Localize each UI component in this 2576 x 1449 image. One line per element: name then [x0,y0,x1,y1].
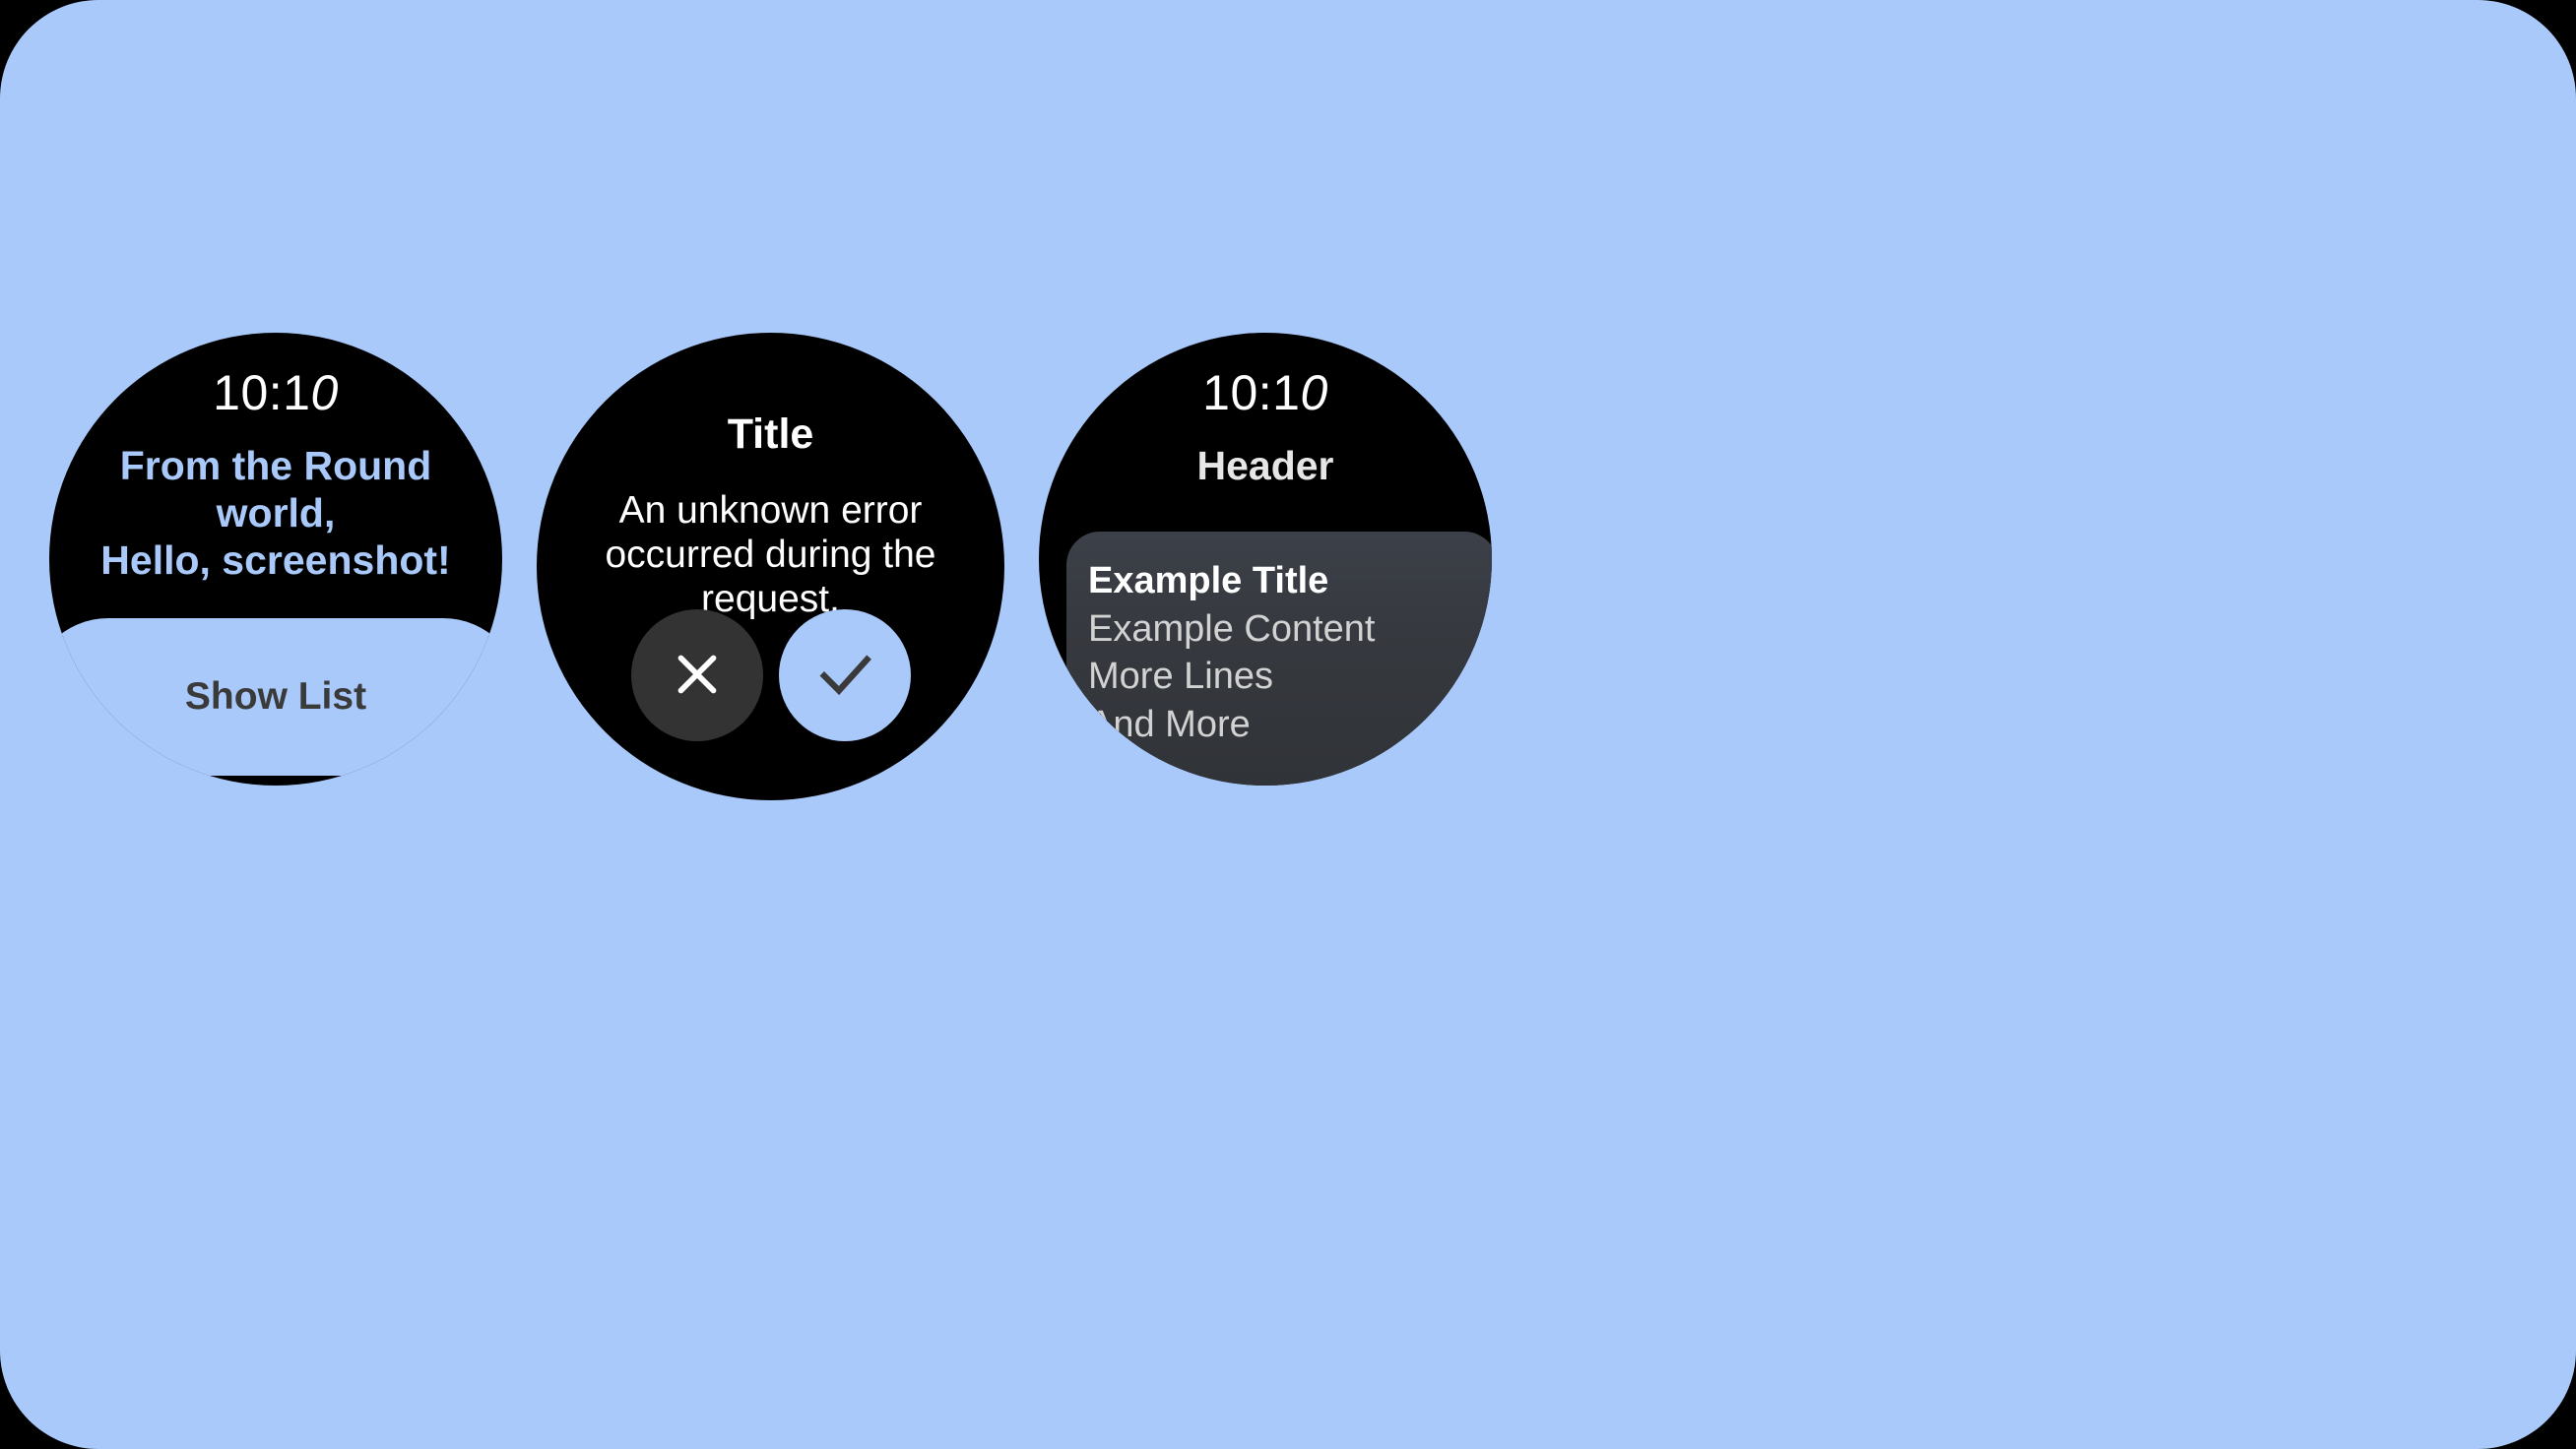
dialog-actions [537,609,1004,741]
close-icon [665,642,730,710]
card-line-2: More Lines [1088,653,1492,701]
dismiss-button[interactable] [631,609,763,741]
watch-preview-list: 10:10 Header Example Title Example Conte… [1039,333,1492,786]
watch-screen: 10:10 Header Example Title Example Conte… [1039,333,1492,786]
confirm-button[interactable] [779,609,911,741]
card-line-3: And More [1088,701,1492,749]
card-line-1: Example Content [1088,605,1492,654]
greeting-text: From the Round world, Hello, screenshot! [65,443,486,585]
status-bar-time-suffix: 0 [311,365,339,420]
status-bar-time-prefix: 10:1 [1202,365,1300,420]
show-list-button[interactable]: Show List [49,618,502,776]
greeting-line-3: Hello, screenshot! [65,537,486,585]
status-bar-time-suffix: 0 [1301,365,1328,420]
list-header: Header [1039,443,1492,489]
status-bar-time-prefix: 10:1 [213,365,310,420]
card-title: Example Title [1088,557,1492,605]
status-bar-time: 10:10 [1039,364,1492,421]
watch-preview-greeting: 10:10 From the Round world, Hello, scree… [49,333,502,786]
dialog-message: An unknown error occurred during the req… [543,488,998,622]
screenshot-canvas: 10:10 From the Round world, Hello, scree… [0,0,2576,1449]
status-bar-time: 10:10 [49,364,502,421]
watch-preview-row: 10:10 From the Round world, Hello, scree… [0,0,2576,1449]
check-icon [809,639,880,713]
watch-screen: 10:10 From the Round world, Hello, scree… [49,333,502,786]
greeting-line-1: From the Round [65,443,486,490]
greeting-line-2: world, [65,490,486,537]
list-card[interactable]: Example Title Example Content More Lines… [1066,532,1492,786]
watch-preview-dialog: Title An unknown error occurred during t… [537,333,1004,800]
dialog-title: Title [537,410,1004,459]
watch-screen: Title An unknown error occurred during t… [537,333,1004,800]
